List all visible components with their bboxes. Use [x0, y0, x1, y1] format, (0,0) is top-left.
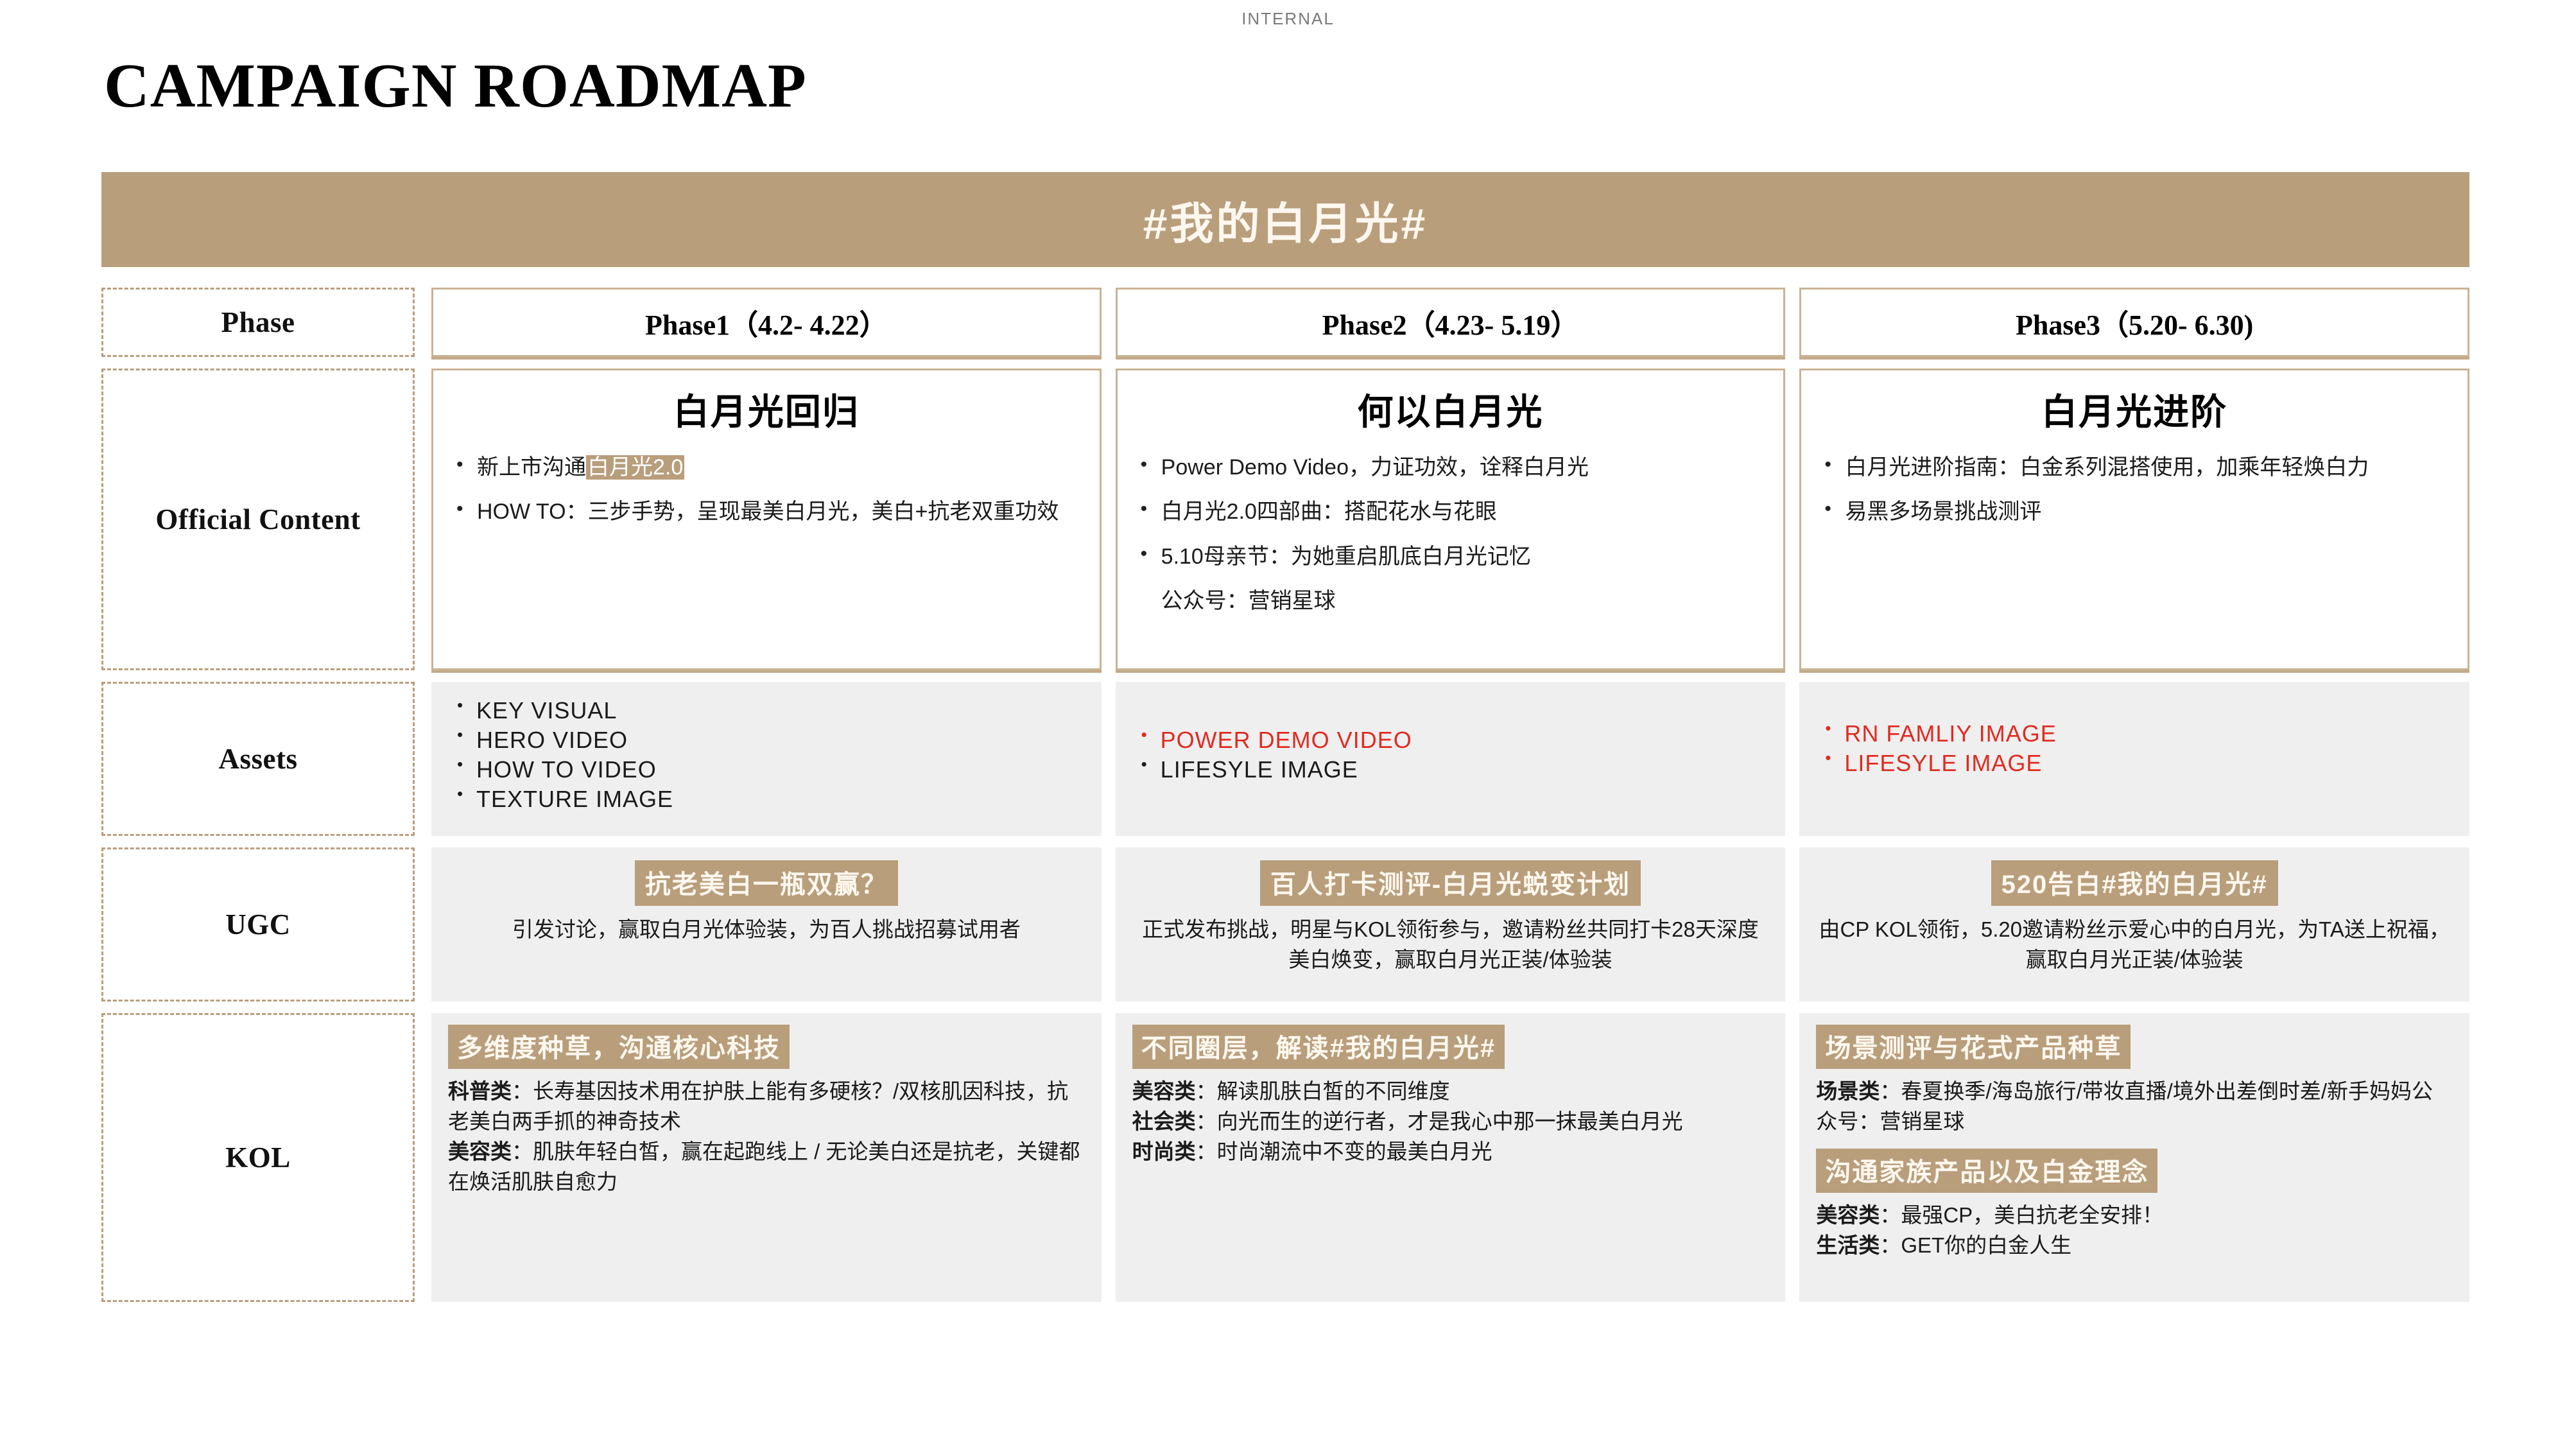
- row-label-phase: Phase: [101, 288, 415, 357]
- list-item: Power Demo Video，力证功效，诠释白月光: [1161, 452, 1770, 483]
- asset-item-text: HERO VIDEO: [476, 727, 628, 753]
- kol-col-3: 场景测评与花式产品种草 场景类：春夏换季/海岛旅行/带妆直播/境外出差倒时差/新…: [1799, 1013, 2469, 1302]
- ugc-body-1: 引发讨论，赢取白月光体验装，为百人挑战招募试用者: [448, 915, 1085, 945]
- bullet-text: Power Demo Video，力证功效，诠释白月光: [1161, 455, 1589, 480]
- asset-item-text: KEY VISUAL: [476, 697, 617, 724]
- row-phase: Phase Phase1（4.2- 4.22） Phase2（4.23- 5.1…: [101, 288, 2469, 357]
- kol-line-text: ：GET你的白金人生: [1880, 1233, 2071, 1257]
- list-item: 白月光2.0四部曲：搭配花水与花眼: [1161, 496, 1770, 528]
- kol-tag-2: 不同圈层，解读#我的白月光#: [1132, 1025, 1505, 1069]
- campaign-hashtag-banner: #我的白月光#: [101, 172, 2469, 267]
- kol-card-1[interactable]: 多维度种草，沟通核心科技 科普类：长寿基因技术用在护肤上能有多硬核？/双核肌因科…: [431, 1013, 1102, 1302]
- kol-line-text: ：春夏换季/海岛旅行/带妆直播/境外出差倒时差/新手妈妈公众号：营销星球: [1816, 1079, 2433, 1133]
- assets-list-3: RN FAMLIY IMAGE LIFESYLE IMAGE: [1817, 719, 2451, 778]
- list-item: LIFESYLE IMAGE: [1161, 755, 1768, 785]
- official-content-list-1: 新上市沟通白月光2.0 HOW TO：三步手势，呈现最美白月光，美白+抗老双重功…: [447, 452, 1085, 528]
- list-item: HOW TO：三步手势，呈现最美白月光，美白+抗老双重功效: [477, 496, 1085, 528]
- bullet-text: 5.10母亲节：为她重启肌底白月光记忆: [1161, 544, 1531, 569]
- ugc-body-2: 正式发布挑战，明星与KOL领衔参与，邀请粉丝共同打卡28天深度美白焕变，赢取白月…: [1132, 915, 1769, 975]
- list-item: HERO VIDEO: [476, 725, 1084, 755]
- kol-line-label: 时尚类: [1132, 1140, 1196, 1163]
- asset-item-text: LIFESYLE IMAGE: [1844, 750, 2042, 776]
- kol-line: 时尚类：时尚潮流中不变的最美白月光: [1132, 1137, 1769, 1167]
- kol-col-1: 多维度种草，沟通核心科技 科普类：长寿基因技术用在护肤上能有多硬核？/双核肌因科…: [431, 1013, 1102, 1302]
- phase-col-3: Phase3（5.20- 6.30): [1799, 288, 2469, 357]
- official-content-col-2: 何以白月光 Power Demo Video，力证功效，诠释白月光 白月光2.0…: [1116, 369, 1786, 670]
- kol-line: 场景类：春夏换季/海岛旅行/带妆直播/境外出差倒时差/新手妈妈公众号：营销星球: [1816, 1077, 2453, 1137]
- bullet-text: HOW TO：三步手势，呈现最美白月光，美白+抗老双重功效: [477, 499, 1059, 524]
- spacer: [101, 1002, 2469, 1013]
- kol-card-2[interactable]: 不同圈层，解读#我的白月光# 美容类：解读肌肤白皙的不同维度 社会类：向光而生的…: [1116, 1013, 1786, 1302]
- list-item: KEY VISUAL: [476, 696, 1084, 725]
- kol-line-label: 生活类: [1816, 1233, 1880, 1257]
- ugc-col-3: 520告白#我的白月光# 由CP KOL领衔，5.20邀请粉丝示爱心中的白月光，…: [1799, 847, 2469, 1002]
- list-item: 易黑多场景挑战测评: [1845, 496, 2453, 528]
- official-content-title-2: 何以白月光: [1132, 383, 1770, 435]
- official-content-col-3: 白月光进阶 白月光进阶指南：白金系列混搭使用，加乘年轻焕白力 易黑多场景挑战测评: [1799, 369, 2469, 670]
- kol-line-text: ：时尚潮流中不变的最美白月光: [1196, 1140, 1492, 1163]
- row-label-kol-text: KOL: [225, 1141, 291, 1174]
- phase-col-1: Phase1（4.2- 4.22）: [431, 288, 1102, 357]
- kol-line-label: 美容类: [448, 1140, 512, 1163]
- bullet-text: 公众号：营销星球: [1161, 589, 1336, 613]
- kol-line-label: 美容类: [1132, 1079, 1196, 1103]
- phase-header-1-text: Phase1（4.2- 4.22）: [645, 302, 888, 343]
- classification-label: INTERNAL: [0, 9, 2576, 29]
- bullet-text: 白月光2.0四部曲：搭配花水与花眼: [1161, 499, 1497, 524]
- official-content-list-3: 白月光进阶指南：白金系列混搭使用，加乘年轻焕白力 易黑多场景挑战测评: [1815, 452, 2453, 528]
- ugc-col-1: 抗老美白一瓶双赢？ 引发讨论，赢取白月光体验装，为百人挑战招募试用者: [431, 847, 1102, 1002]
- phase-header-3-text: Phase3（5.20- 6.30): [2016, 302, 2253, 343]
- kol-line: 美容类：解读肌肤白皙的不同维度: [1132, 1077, 1769, 1107]
- ugc-card-3[interactable]: 520告白#我的白月光# 由CP KOL领衔，5.20邀请粉丝示爱心中的白月光，…: [1799, 847, 2469, 1002]
- page-title: CAMPAIGN ROADMAP: [104, 50, 807, 122]
- kol-line-label: 美容类: [1816, 1203, 1880, 1227]
- roadmap-grid: Phase Phase1（4.2- 4.22） Phase2（4.23- 5.1…: [101, 288, 2469, 1302]
- list-item: LIFESYLE IMAGE: [1844, 749, 2451, 778]
- spacer: [101, 357, 2469, 369]
- row-label-official-content: Official Content: [101, 369, 415, 670]
- row-ugc: UGC 抗老美白一瓶双赢？ 引发讨论，赢取白月光体验装，为百人挑战招募试用者 百…: [101, 847, 2469, 1002]
- list-item: 5.10母亲节：为她重启肌底白月光记忆: [1161, 541, 1770, 573]
- ugc-tag-3: 520告白#我的白月光#: [1991, 860, 2278, 906]
- official-content-card-1[interactable]: 白月光回归 新上市沟通白月光2.0 HOW TO：三步手势，呈现最美白月光，美白…: [431, 369, 1102, 670]
- kol-line: 社会类：向光而生的逆行者，才是我心中那一抹最美白月光: [1132, 1107, 1769, 1137]
- assets-col-1: KEY VISUAL HERO VIDEO HOW TO VIDEO TEXTU…: [431, 682, 1102, 836]
- phase-header-1[interactable]: Phase1（4.2- 4.22）: [431, 288, 1102, 357]
- kol-line: 美容类：最强CP，美白抗老全安排！: [1816, 1201, 2453, 1231]
- kol-tag-3b: 沟通家族产品以及白金理念: [1816, 1149, 2157, 1193]
- ugc-col-2: 百人打卡测评-白月光蜕变计划 正式发布挑战，明星与KOL领衔参与，邀请粉丝共同打…: [1116, 847, 1786, 1002]
- row-official-content: Official Content 白月光回归 新上市沟通白月光2.0 HOW T…: [101, 369, 2469, 670]
- row-label-kol: KOL: [101, 1013, 415, 1302]
- spacer: [1816, 1137, 2453, 1149]
- list-item: POWER DEMO VIDEO: [1161, 725, 1768, 755]
- kol-line: 科普类：长寿基因技术用在护肤上能有多硬核？/双核肌因科技，抗老美白两手抓的神奇技…: [448, 1077, 1085, 1137]
- spacer: [101, 670, 2469, 682]
- campaign-hashtag-text: #我的白月光#: [1143, 188, 1428, 252]
- ugc-body-3: 由CP KOL领衔，5.20邀请粉丝示爱心中的白月光，为TA送上祝福，赢取白月光…: [1816, 915, 2453, 975]
- official-content-title-1: 白月光回归: [447, 383, 1085, 435]
- kol-line-label: 社会类: [1132, 1109, 1196, 1133]
- list-item: TEXTURE IMAGE: [476, 785, 1084, 814]
- asset-item-text: LIFESYLE IMAGE: [1161, 756, 1358, 783]
- official-content-list-2: Power Demo Video，力证功效，诠释白月光 白月光2.0四部曲：搭配…: [1132, 452, 1770, 617]
- kol-line: 美容类：肌肤年轻白皙，赢在起跑线上 / 无论美白还是抗老，关键都在焕活肌肤自愈力: [448, 1137, 1085, 1197]
- row-label-assets-text: Assets: [219, 742, 298, 776]
- bullet-text: 易黑多场景挑战测评: [1845, 499, 2041, 524]
- kol-tag-3a: 场景测评与花式产品种草: [1816, 1025, 2131, 1069]
- assets-col-2: POWER DEMO VIDEO LIFESYLE IMAGE: [1116, 682, 1786, 836]
- assets-col-3: RN FAMLIY IMAGE LIFESYLE IMAGE: [1799, 682, 2469, 836]
- kol-line-text: ：解读肌肤白皙的不同维度: [1196, 1079, 1450, 1103]
- asset-item-text: RN FAMLIY IMAGE: [1844, 720, 2056, 747]
- ugc-card-1[interactable]: 抗老美白一瓶双赢？ 引发讨论，赢取白月光体验装，为百人挑战招募试用者: [431, 847, 1102, 1002]
- list-item: 新上市沟通白月光2.0: [477, 452, 1085, 483]
- row-label-ugc: UGC: [101, 847, 415, 1002]
- kol-line-label: 场景类: [1816, 1079, 1880, 1103]
- row-assets: Assets KEY VISUAL HERO VIDEO HOW TO VIDE…: [101, 682, 2469, 836]
- asset-item-text: TEXTURE IMAGE: [476, 786, 673, 812]
- list-item-extra: 公众号：营销星球: [1161, 586, 1770, 617]
- assets-card-1[interactable]: KEY VISUAL HERO VIDEO HOW TO VIDEO TEXTU…: [431, 682, 1102, 836]
- kol-line-text: ：向光而生的逆行者，才是我心中那一抹最美白月光: [1196, 1109, 1683, 1133]
- kol-card-3[interactable]: 场景测评与花式产品种草 场景类：春夏换季/海岛旅行/带妆直播/境外出差倒时差/新…: [1799, 1013, 2469, 1302]
- kol-line-text: ：长寿基因技术用在护肤上能有多硬核？/双核肌因科技，抗老美白两手抓的神奇技术: [448, 1079, 1068, 1133]
- kol-line: 生活类：GET你的白金人生: [1816, 1231, 2453, 1261]
- bullet-highlight: 白月光2.0: [586, 455, 684, 480]
- row-label-ugc-text: UGC: [225, 908, 291, 941]
- official-content-card-3[interactable]: 白月光进阶 白月光进阶指南：白金系列混搭使用，加乘年轻焕白力 易黑多场景挑战测评: [1799, 369, 2469, 670]
- list-item: 白月光进阶指南：白金系列混搭使用，加乘年轻焕白力: [1845, 452, 2453, 483]
- row-kol: KOL 多维度种草，沟通核心科技 科普类：长寿基因技术用在护肤上能有多硬核？/双…: [101, 1013, 2469, 1302]
- phase-header-3[interactable]: Phase3（5.20- 6.30): [1799, 288, 2469, 357]
- official-content-col-1: 白月光回归 新上市沟通白月光2.0 HOW TO：三步手势，呈现最美白月光，美白…: [431, 369, 1102, 670]
- list-item: HOW TO VIDEO: [476, 755, 1084, 785]
- assets-card-2[interactable]: POWER DEMO VIDEO LIFESYLE IMAGE: [1116, 682, 1786, 836]
- kol-tag-1: 多维度种草，沟通核心科技: [448, 1025, 790, 1069]
- ugc-tag-1: 抗老美白一瓶双赢？: [635, 860, 898, 906]
- ugc-card-2[interactable]: 百人打卡测评-白月光蜕变计划 正式发布挑战，明星与KOL领衔参与，邀请粉丝共同打…: [1116, 847, 1786, 1002]
- row-label-assets: Assets: [101, 682, 415, 836]
- assets-list-1: KEY VISUAL HERO VIDEO HOW TO VIDEO TEXTU…: [449, 696, 1084, 814]
- phase-col-2: Phase2（4.23- 5.19）: [1116, 288, 1786, 357]
- phase-header-2-text: Phase2（4.23- 5.19）: [1322, 302, 1579, 343]
- phase-header-2[interactable]: Phase2（4.23- 5.19）: [1116, 288, 1786, 357]
- row-label-official-content-text: Official Content: [155, 503, 360, 536]
- assets-list-2: POWER DEMO VIDEO LIFESYLE IMAGE: [1134, 725, 1768, 785]
- ugc-tag-2: 百人打卡测评-白月光蜕变计划: [1260, 860, 1641, 906]
- kol-line-label: 科普类: [448, 1079, 512, 1103]
- bullet-text: 新上市沟通: [477, 455, 586, 480]
- kol-col-2: 不同圈层，解读#我的白月光# 美容类：解读肌肤白皙的不同维度 社会类：向光而生的…: [1116, 1013, 1786, 1302]
- row-label-phase-text: Phase: [221, 306, 295, 339]
- kol-line-text: ：肌肤年轻白皙，赢在起跑线上 / 无论美白还是抗老，关键都在焕活肌肤自愈力: [448, 1140, 1080, 1193]
- assets-card-3[interactable]: RN FAMLIY IMAGE LIFESYLE IMAGE: [1799, 682, 2469, 836]
- kol-line-text: ：最强CP，美白抗老全安排！: [1880, 1203, 2163, 1227]
- list-item: RN FAMLIY IMAGE: [1844, 719, 2451, 749]
- asset-item-text: HOW TO VIDEO: [476, 756, 657, 783]
- asset-item-text: POWER DEMO VIDEO: [1161, 727, 1412, 753]
- official-content-title-3: 白月光进阶: [1815, 383, 2453, 435]
- spacer: [101, 836, 2469, 847]
- bullet-text: 白月光进阶指南：白金系列混搭使用，加乘年轻焕白力: [1845, 455, 2369, 480]
- official-content-card-2[interactable]: 何以白月光 Power Demo Video，力证功效，诠释白月光 白月光2.0…: [1116, 369, 1786, 670]
